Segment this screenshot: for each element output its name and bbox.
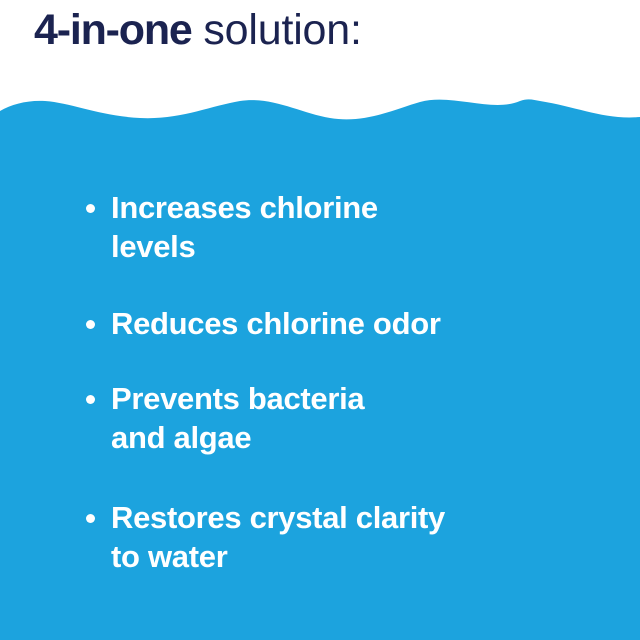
list-item: Restores crystal clarity to water — [86, 498, 631, 576]
dot-bullet-icon — [86, 395, 95, 404]
list-item-label: Prevents bacteria and algae — [111, 379, 631, 457]
list-item-label: Restores crystal clarity to water — [111, 498, 631, 576]
dot-bullet-icon — [86, 204, 95, 213]
list-item-label: Increases chlorine levels — [111, 188, 631, 266]
list-item-label: Reduces chlorine odor — [111, 304, 631, 343]
dot-bullet-icon — [86, 514, 95, 523]
list-item: Prevents bacteria and algae — [86, 379, 631, 457]
benefit-list: Increases chlorine levels Reduces chlori… — [0, 0, 640, 640]
list-item: Reduces chlorine odor — [86, 304, 631, 343]
promo-poster: 4-in-one solution: Increases chlorine le… — [0, 0, 640, 640]
list-item: Increases chlorine levels — [86, 188, 631, 266]
dot-bullet-icon — [86, 320, 95, 329]
